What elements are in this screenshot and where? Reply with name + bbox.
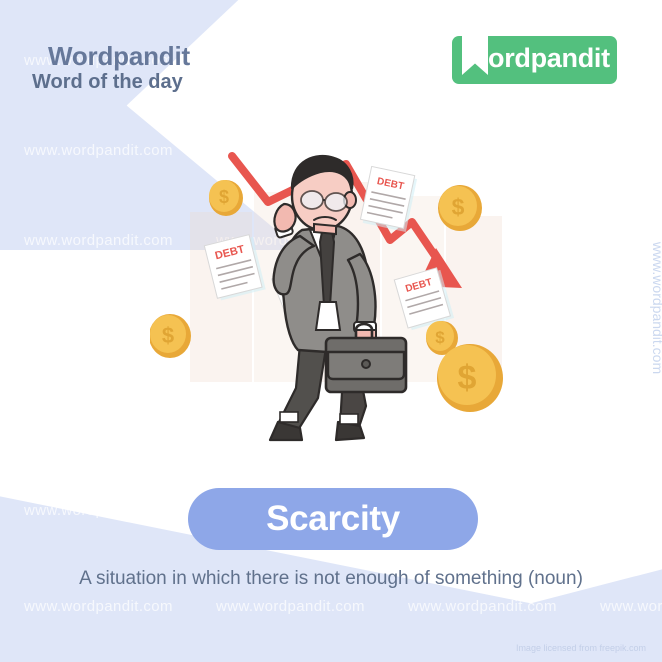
word-definition: A situation in which there is not enough… <box>0 568 662 590</box>
image-credit: Image licensed from freepik.com <box>516 643 646 653</box>
gold-coin: $ <box>438 185 482 231</box>
wordpandit-logo[interactable]: ordpandit <box>452 36 617 84</box>
logo-label: ordpandit <box>488 43 610 74</box>
illustration-svg: DEBT DEBT DEBT <box>150 130 550 450</box>
gold-coin: $ <box>150 314 191 358</box>
gold-coin: $ <box>209 180 243 216</box>
svg-text:$: $ <box>435 328 445 347</box>
scarcity-illustration: DEBT DEBT DEBT <box>150 130 550 450</box>
svg-text:$: $ <box>452 194 465 220</box>
word-of-the-day-card: www.wordpandit.com www.wordpandit.com ww… <box>0 0 662 662</box>
page-title: Wordpandit <box>48 41 190 72</box>
word-term: Scarcity <box>266 499 400 539</box>
gold-coin-large: $ <box>437 344 503 412</box>
svg-text:$: $ <box>162 323 174 348</box>
word-pill[interactable]: Scarcity <box>188 488 478 550</box>
page-subtitle: Word of the day <box>32 71 183 94</box>
svg-text:$: $ <box>458 359 477 397</box>
svg-text:$: $ <box>219 187 229 207</box>
bookmark-icon <box>462 34 488 75</box>
